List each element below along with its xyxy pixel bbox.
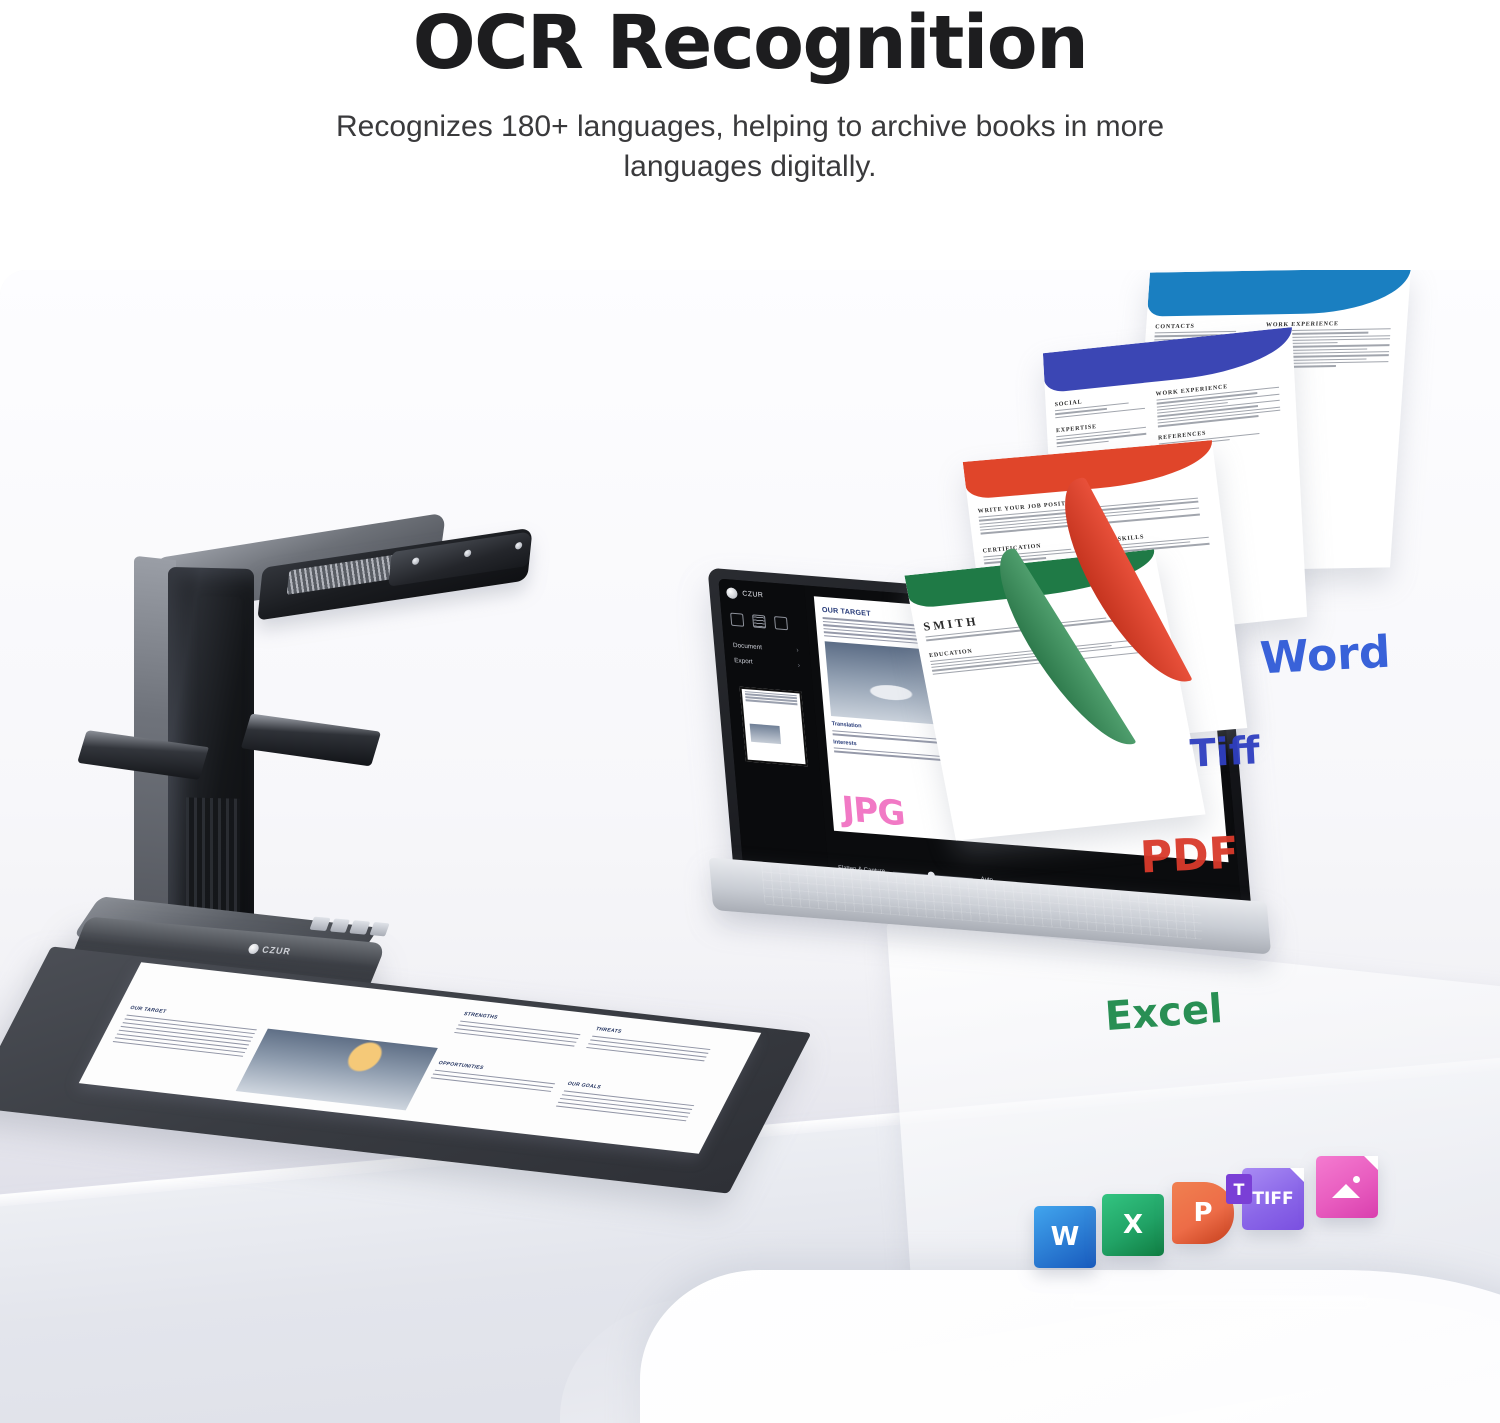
indicator-dot — [515, 542, 523, 550]
indicator-dot — [412, 557, 420, 565]
thumb-image — [750, 724, 781, 745]
powerpoint-file-letter: P — [1193, 1198, 1212, 1228]
crop-tool-icon[interactable] — [730, 613, 744, 627]
app-toolbar[interactable] — [730, 613, 801, 632]
sheet-heading: CONTACTS — [1155, 323, 1259, 331]
right-light-bar — [241, 714, 381, 767]
excel-file-letter: X — [1123, 1210, 1143, 1240]
scanner-button[interactable] — [369, 922, 390, 936]
icons-reflection — [1070, 1281, 1370, 1309]
header: OCR Recognition Recognizes 180+ language… — [0, 0, 1500, 270]
brand-mark-icon — [247, 944, 260, 955]
sheet-color-band — [1147, 270, 1411, 317]
format-label-word: Word — [1259, 627, 1392, 685]
tiff-file-label: TIFF — [1252, 1189, 1293, 1209]
flying-documents: CONTACTS EDUCATION SKILLS WORK EXPERIENC… — [940, 270, 1500, 870]
scanner-button[interactable] — [309, 917, 330, 931]
powerpoint-file-icon: P — [1172, 1182, 1234, 1244]
chevron-right-icon: › — [797, 662, 800, 669]
format-label-tiff: Tiff — [1189, 728, 1261, 776]
page-thumbnail[interactable] — [740, 687, 808, 767]
app-brand-name: CZUR — [742, 590, 764, 599]
tiff-file-icon: T TIFF — [1242, 1168, 1304, 1230]
file-format-icons: W X P T TIFF — [1030, 1160, 1400, 1270]
page-fold-corner-icon — [1364, 1156, 1378, 1170]
scanner-button[interactable] — [329, 918, 350, 932]
chevron-right-icon: › — [796, 647, 799, 654]
product-photo: CZUR OUR TARGET STRENGTHS OPPORTUNITIES … — [0, 270, 1500, 1423]
format-label-pdf: PDF — [1139, 827, 1240, 883]
format-label-excel: Excel — [1104, 986, 1225, 1040]
picture-glyph-icon — [1332, 1176, 1362, 1198]
image-file-icon — [1316, 1156, 1378, 1218]
app-brand: CZUR — [726, 587, 799, 604]
page-title: OCR Recognition — [413, 2, 1088, 85]
edit-tool-icon[interactable] — [774, 616, 788, 630]
excel-file-icon: X — [1102, 1194, 1164, 1256]
scanner-button[interactable] — [349, 920, 370, 934]
word-file-icon: W — [1034, 1206, 1096, 1268]
menu-item-label: Export — [734, 657, 753, 666]
chair-highlight — [560, 1298, 1500, 1423]
page-fold-corner-icon — [1290, 1168, 1304, 1182]
app-logo-icon — [726, 587, 738, 599]
brand-name: CZUR — [261, 945, 292, 957]
page-tool-icon[interactable] — [752, 614, 766, 628]
tiff-badge-letter: T — [1226, 1174, 1252, 1204]
app-menu[interactable]: Document › Export › — [732, 638, 804, 674]
product-feature-page: OCR Recognition Recognizes 180+ language… — [0, 0, 1500, 1423]
resume-sheet: SMITH EDUCATION — [904, 549, 1205, 840]
page-subtitle: Recognizes 180+ languages, helping to ar… — [285, 107, 1215, 188]
word-file-letter: W — [1051, 1222, 1080, 1252]
menu-item-label: Document — [733, 642, 763, 651]
indicator-dot — [463, 549, 471, 557]
scan-photo-owl — [236, 1029, 438, 1111]
jpg-watermark: JPG — [840, 789, 906, 834]
